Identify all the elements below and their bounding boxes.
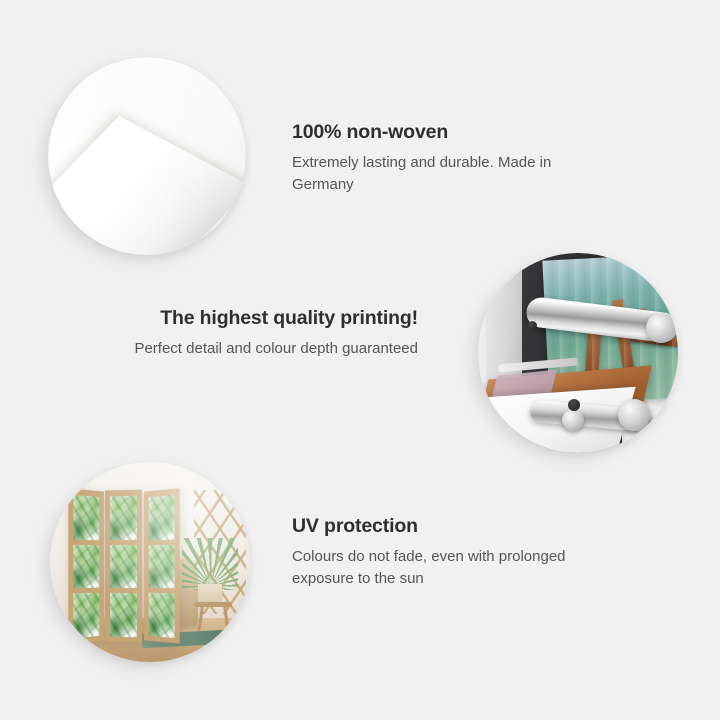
divider-leaf-cell xyxy=(73,544,99,593)
side-table-top xyxy=(194,602,232,607)
press-roller-cap xyxy=(562,409,584,431)
printing-image-inner xyxy=(478,253,678,453)
press-roller-cap xyxy=(618,399,650,431)
press-roller-cap xyxy=(646,313,676,343)
non-woven-text-block: 100% non-woven Extremely lasting and dur… xyxy=(292,122,602,195)
uv-protection-image xyxy=(50,462,250,662)
non-woven-description: Extremely lasting and durable. Made in G… xyxy=(292,152,602,195)
uv-heading: UV protection xyxy=(292,516,592,537)
press-adjust-knob xyxy=(568,399,580,411)
divider-panel xyxy=(144,488,180,643)
divider-panel xyxy=(105,490,142,643)
uv-image-inner xyxy=(50,462,250,662)
printing-heading: The highest quality printing! xyxy=(118,308,418,329)
tropical-room-divider xyxy=(68,490,180,642)
divider-leaf-cell xyxy=(110,496,137,545)
uv-text-block: UV protection Colours do not fade, even … xyxy=(292,516,592,589)
printing-description: Perfect detail and colour depth guarante… xyxy=(118,338,418,359)
press-adjust-knob xyxy=(528,321,537,330)
divider-panel xyxy=(68,488,104,643)
divider-leaf-cell xyxy=(73,495,99,545)
divider-leaf-cell xyxy=(73,593,99,638)
divider-leaf-cell xyxy=(110,593,137,637)
non-woven-heading: 100% non-woven xyxy=(292,122,602,143)
uv-description: Colours do not fade, even with prolonged… xyxy=(292,546,592,589)
divider-leaf-cell xyxy=(110,545,137,594)
divider-leaf-cell xyxy=(148,593,174,638)
printing-text-block: The highest quality printing! Perfect de… xyxy=(118,308,418,360)
divider-leaf-cell xyxy=(148,495,174,545)
feature-highlights-panel: 100% non-woven Extremely lasting and dur… xyxy=(0,0,720,720)
non-woven-wallpaper-image xyxy=(48,57,246,255)
side-table xyxy=(194,602,232,634)
non-woven-image-inner xyxy=(48,57,246,255)
potted-palm-leaves xyxy=(182,538,238,590)
printing-press-image xyxy=(478,253,678,453)
divider-leaf-cell xyxy=(148,544,174,593)
